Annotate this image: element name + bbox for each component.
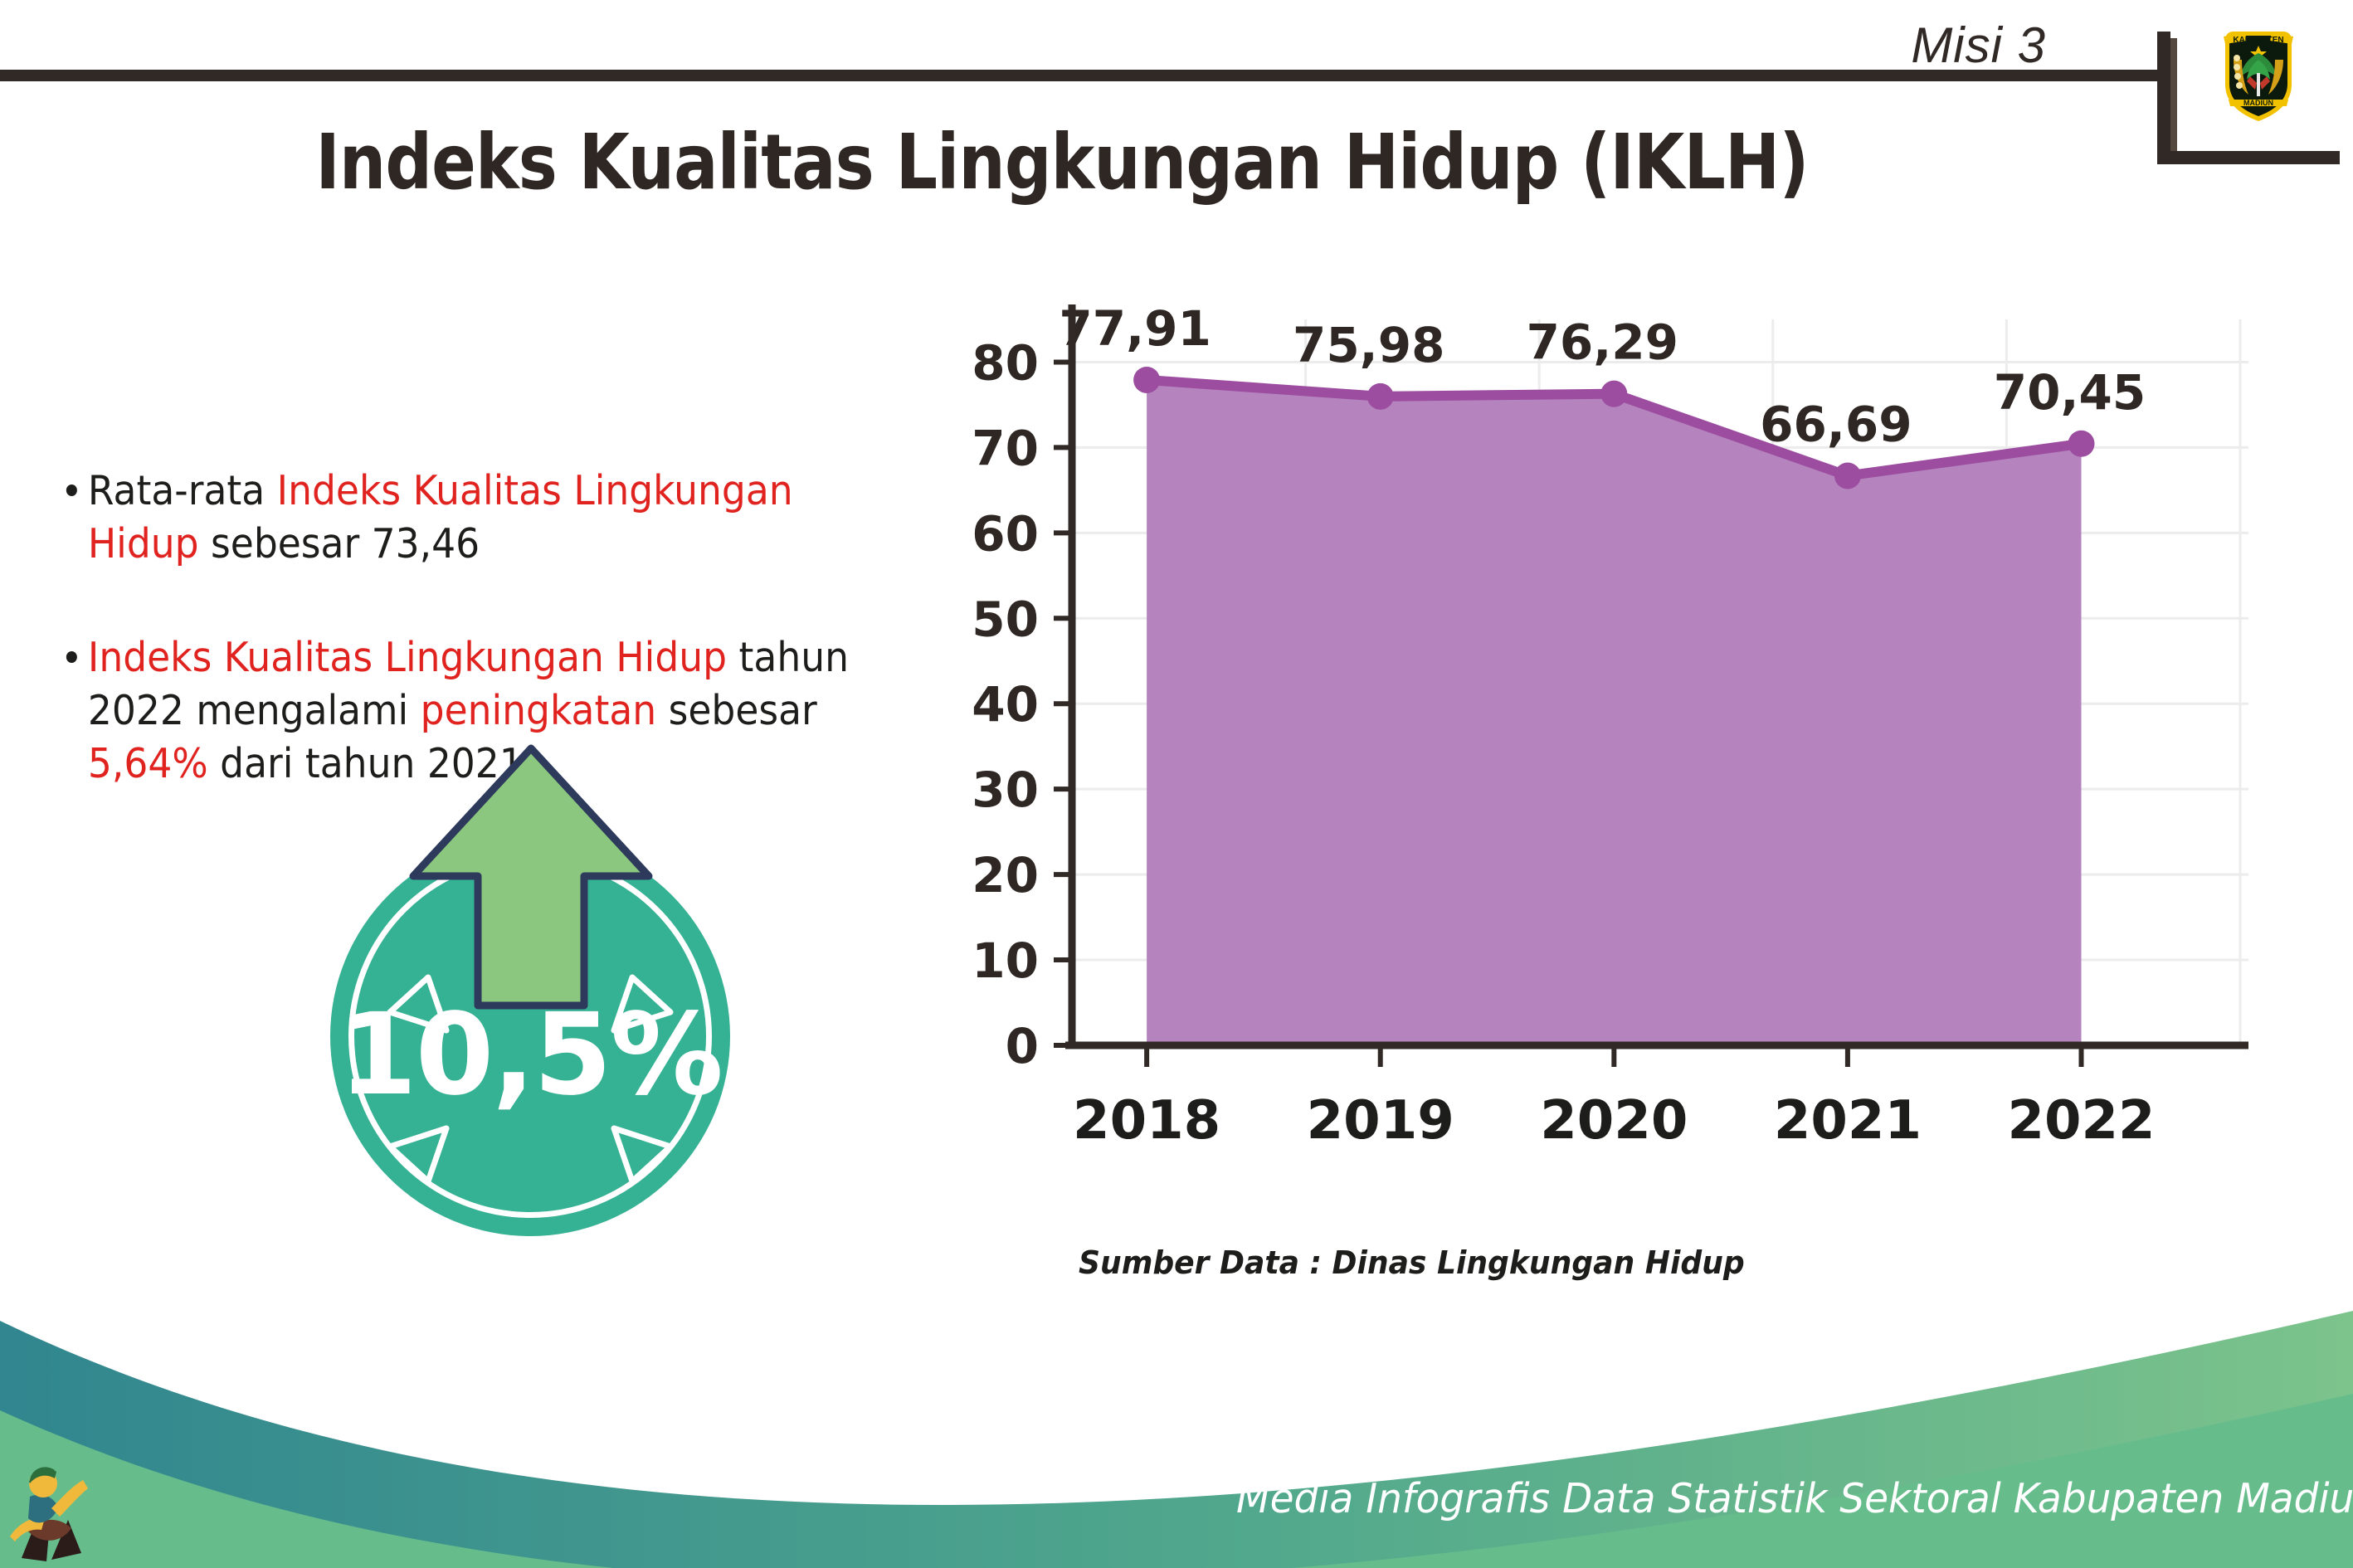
chart-y-tick-label: 20 — [972, 847, 1039, 903]
chart-y-tick-label: 70 — [972, 420, 1039, 476]
chart-data-point-marker — [1600, 381, 1627, 407]
up-arrow-icon — [407, 743, 655, 1017]
dancer-figure-logo-icon — [0, 1460, 100, 1568]
chart-x-tick-label: 2021 — [1774, 1090, 1922, 1152]
kabupaten-madiun-emblem-icon: KABUPATEN MADIUN — [2214, 18, 2303, 124]
bullet-plain-text: sebesar — [656, 687, 817, 734]
chart-data-point-marker — [1133, 367, 1160, 393]
footer-decoration: Media Infografis Data Statistik Sektoral… — [0, 1269, 2353, 1568]
bracket-shadow — [2170, 38, 2177, 164]
chart-y-tick-label: 30 — [972, 762, 1039, 818]
chart-data-point-marker — [2068, 431, 2095, 457]
chart-y-tick-label: 40 — [972, 676, 1039, 733]
chart-y-tick-label: 0 — [1006, 1018, 1039, 1074]
chart-y-tick-label: 60 — [972, 505, 1039, 562]
misi-label: Misi 3 — [1911, 17, 2046, 74]
chart-value-label: 66,69 — [1760, 396, 1912, 452]
chart-x-tick-label: 2018 — [1073, 1090, 1220, 1152]
chart-x-tick-label: 2019 — [1307, 1090, 1454, 1152]
chart-y-tick-label: 50 — [972, 591, 1039, 647]
chart-value-label: 76,29 — [1527, 314, 1678, 371]
chart-data-point-marker — [1834, 462, 1861, 489]
footer-caption: Media Infografis Data Statistik Sektoral… — [1236, 1475, 2353, 1522]
bullet-list: Rata-rata Indeks Kualitas Lingkungan Hid… — [65, 465, 969, 790]
iklh-area-chart: 77,9175,9876,2966,6970,45010203040506070… — [946, 274, 2290, 1236]
bullet-text: Rata-rata Indeks Kualitas Lingkungan Hid… — [88, 467, 793, 567]
chart-y-tick-label: 80 — [972, 334, 1039, 391]
chart-x-tick-label: 2020 — [1540, 1090, 1688, 1152]
chart-y-tick-label: 10 — [972, 933, 1039, 989]
chart-value-label: 70,45 — [1994, 364, 2146, 421]
bullet-highlight-text: Indeks Kualitas Lingkungan Hidup — [88, 634, 727, 681]
bullet-plain-text: sebesar 73,46 — [199, 520, 480, 567]
emblem-top-banner-text: KABUPATEN — [2233, 36, 2283, 45]
chart-x-tick-label: 2022 — [2007, 1090, 2155, 1152]
chart-value-label: 77,91 — [1059, 300, 1211, 357]
bracket-vertical-bar — [2157, 32, 2170, 164]
chart-value-label: 75,98 — [1293, 317, 1444, 373]
chart-data-point-marker — [1367, 383, 1394, 410]
chart-area-fill — [1147, 380, 2081, 1045]
emblem-bottom-banner-text: MADIUN — [2243, 99, 2273, 107]
chart-canvas: 77,9175,9876,2966,6970,45010203040506070… — [946, 274, 2290, 1236]
bracket-horizontal-bar — [2157, 151, 2340, 164]
bullet-dot-icon — [66, 651, 77, 663]
footer-waves — [0, 1269, 2353, 1568]
bullet-highlight-text: 5,64% — [88, 740, 208, 787]
infographic-slide: Misi 3 KABUPATEN MADIUN — [0, 0, 2353, 1568]
bullet-dot-icon — [66, 485, 77, 496]
bullet-plain-text: Rata-rata — [88, 467, 277, 514]
increase-percentage-badge: 10,5% — [330, 836, 730, 1236]
page-title: Indeks Kualitas Lingkungan Hidup (IKLH) — [149, 118, 1975, 207]
bullet-highlight-text: peningkatan — [421, 687, 657, 734]
header-divider-rule — [0, 70, 2174, 81]
bullet-item-average: Rata-rata Indeks Kualitas Lingkungan Hid… — [65, 465, 906, 570]
